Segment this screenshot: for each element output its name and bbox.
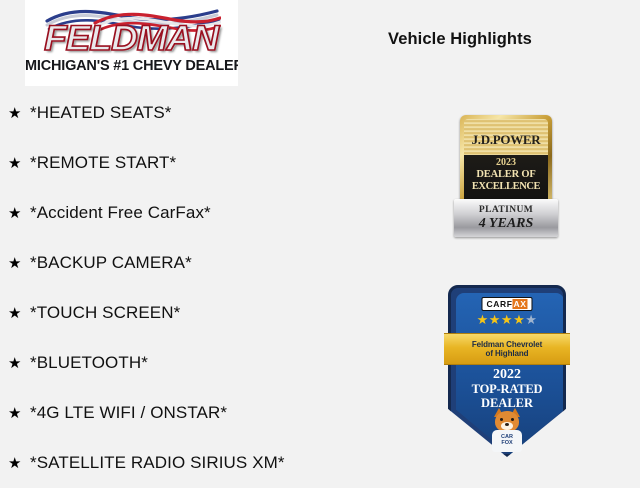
- list-item-label: *HEATED SEATS*: [30, 103, 172, 123]
- carfax-logo: CARFAX: [481, 297, 532, 311]
- list-item-label: *BACKUP CAMERA*: [30, 253, 192, 273]
- list-item-label: *TOUCH SCREEN*: [30, 303, 180, 323]
- fox-shirt-line-2: FOX: [501, 440, 512, 446]
- list-item-label: *BLUETOOTH*: [30, 353, 148, 373]
- carfax-dealer-line-1: Feldman Chevrolet: [472, 340, 542, 349]
- logo-tagline: MICHIGAN'S #1 CHEVY DEALER: [25, 58, 238, 74]
- jd-power-tier: PLATINUM: [454, 204, 558, 216]
- carfax-award-line-2: DEALER: [448, 396, 566, 410]
- car-fox-mascot-icon: CAR FOX: [487, 411, 527, 455]
- carfax-dealer-line-2: of Highland: [486, 349, 529, 358]
- list-item: ★ *TOUCH SCREEN*: [0, 288, 430, 338]
- list-item-label: *SATELLITE RADIO SIRIUS XM*: [30, 453, 285, 473]
- carfax-logo-accent: AX: [513, 299, 528, 309]
- jd-power-award-badge: J.D.POWER 2023 DEALER OF EXCELLENCE PLAT…: [454, 115, 558, 237]
- jd-power-plaque: J.D.POWER 2023 DEALER OF EXCELLENCE: [460, 115, 552, 211]
- star-bullet-icon: ★: [8, 106, 30, 121]
- list-item: ★ *Accident Free CarFax*: [0, 188, 430, 238]
- list-item: ★ *BLUETOOTH*: [0, 338, 430, 388]
- star-bullet-icon: ★: [8, 156, 30, 171]
- fox-eye-left: [500, 418, 503, 421]
- carfax-dealer-banner: Feldman Chevrolet of Highland: [444, 333, 570, 365]
- carfax-award-line-1: TOP-RATED: [448, 382, 566, 396]
- dealer-logo[interactable]: FELDMAN MICHIGAN'S #1 CHEVY DEALER: [25, 0, 238, 86]
- carfax-stars-filled: ★★★★: [477, 312, 526, 327]
- logo-wordmark-container: FELDMAN: [25, 19, 238, 59]
- list-item: ★ *SATELLITE RADIO SIRIUS XM*: [0, 438, 430, 488]
- logo-wordmark: FELDMAN: [45, 19, 219, 59]
- list-item-label: *Accident Free CarFax*: [30, 203, 211, 223]
- jd-power-brand-label: J.D.POWER: [472, 132, 541, 148]
- list-item-label: *REMOTE START*: [30, 153, 176, 173]
- star-bullet-icon: ★: [8, 206, 30, 221]
- star-bullet-icon: ★: [8, 356, 30, 371]
- star-bullet-icon: ★: [8, 256, 30, 271]
- carfax-stars-empty: ★: [525, 312, 537, 327]
- star-bullet-icon: ★: [8, 306, 30, 321]
- carfax-year: 2022: [448, 367, 566, 382]
- jd-power-award-line-1: DEALER OF: [464, 169, 548, 181]
- page-header: FELDMAN MICHIGAN'S #1 CHEVY DEALER Vehic…: [0, 0, 640, 88]
- list-item: ★ *BACKUP CAMERA*: [0, 238, 430, 288]
- carfax-logo-main: CARF: [486, 299, 512, 309]
- jd-power-year: 2023: [464, 157, 548, 169]
- star-bullet-icon: ★: [8, 456, 30, 471]
- jd-power-ribbon: PLATINUM 4 YEARS: [454, 199, 558, 237]
- page-title: Vehicle Highlights: [320, 30, 600, 49]
- carfax-top-rated-dealer-badge: CARFAX ★★★★★ Feldman Chevrolet of Highla…: [448, 285, 566, 457]
- fox-shirt-text: CAR FOX: [492, 434, 522, 446]
- carfax-star-rating: ★★★★★: [448, 313, 566, 327]
- jd-power-award-line-2: EXCELLENCE: [464, 181, 548, 193]
- list-item: ★ *REMOTE START*: [0, 138, 430, 188]
- jd-power-duration: 4 YEARS: [454, 216, 558, 232]
- vehicle-highlights-list: ★ *HEATED SEATS* ★ *REMOTE START* ★ *Acc…: [0, 88, 430, 488]
- fox-shirt: CAR FOX: [492, 430, 522, 452]
- list-item: ★ *4G LTE WIFI / ONSTAR*: [0, 388, 430, 438]
- list-item: ★ *HEATED SEATS*: [0, 88, 430, 138]
- list-item-label: *4G LTE WIFI / ONSTAR*: [30, 403, 227, 423]
- fox-nose: [505, 423, 509, 426]
- star-bullet-icon: ★: [8, 406, 30, 421]
- fox-eye-right: [511, 418, 514, 421]
- carfax-dealer-name: Feldman Chevrolet of Highland: [472, 340, 542, 359]
